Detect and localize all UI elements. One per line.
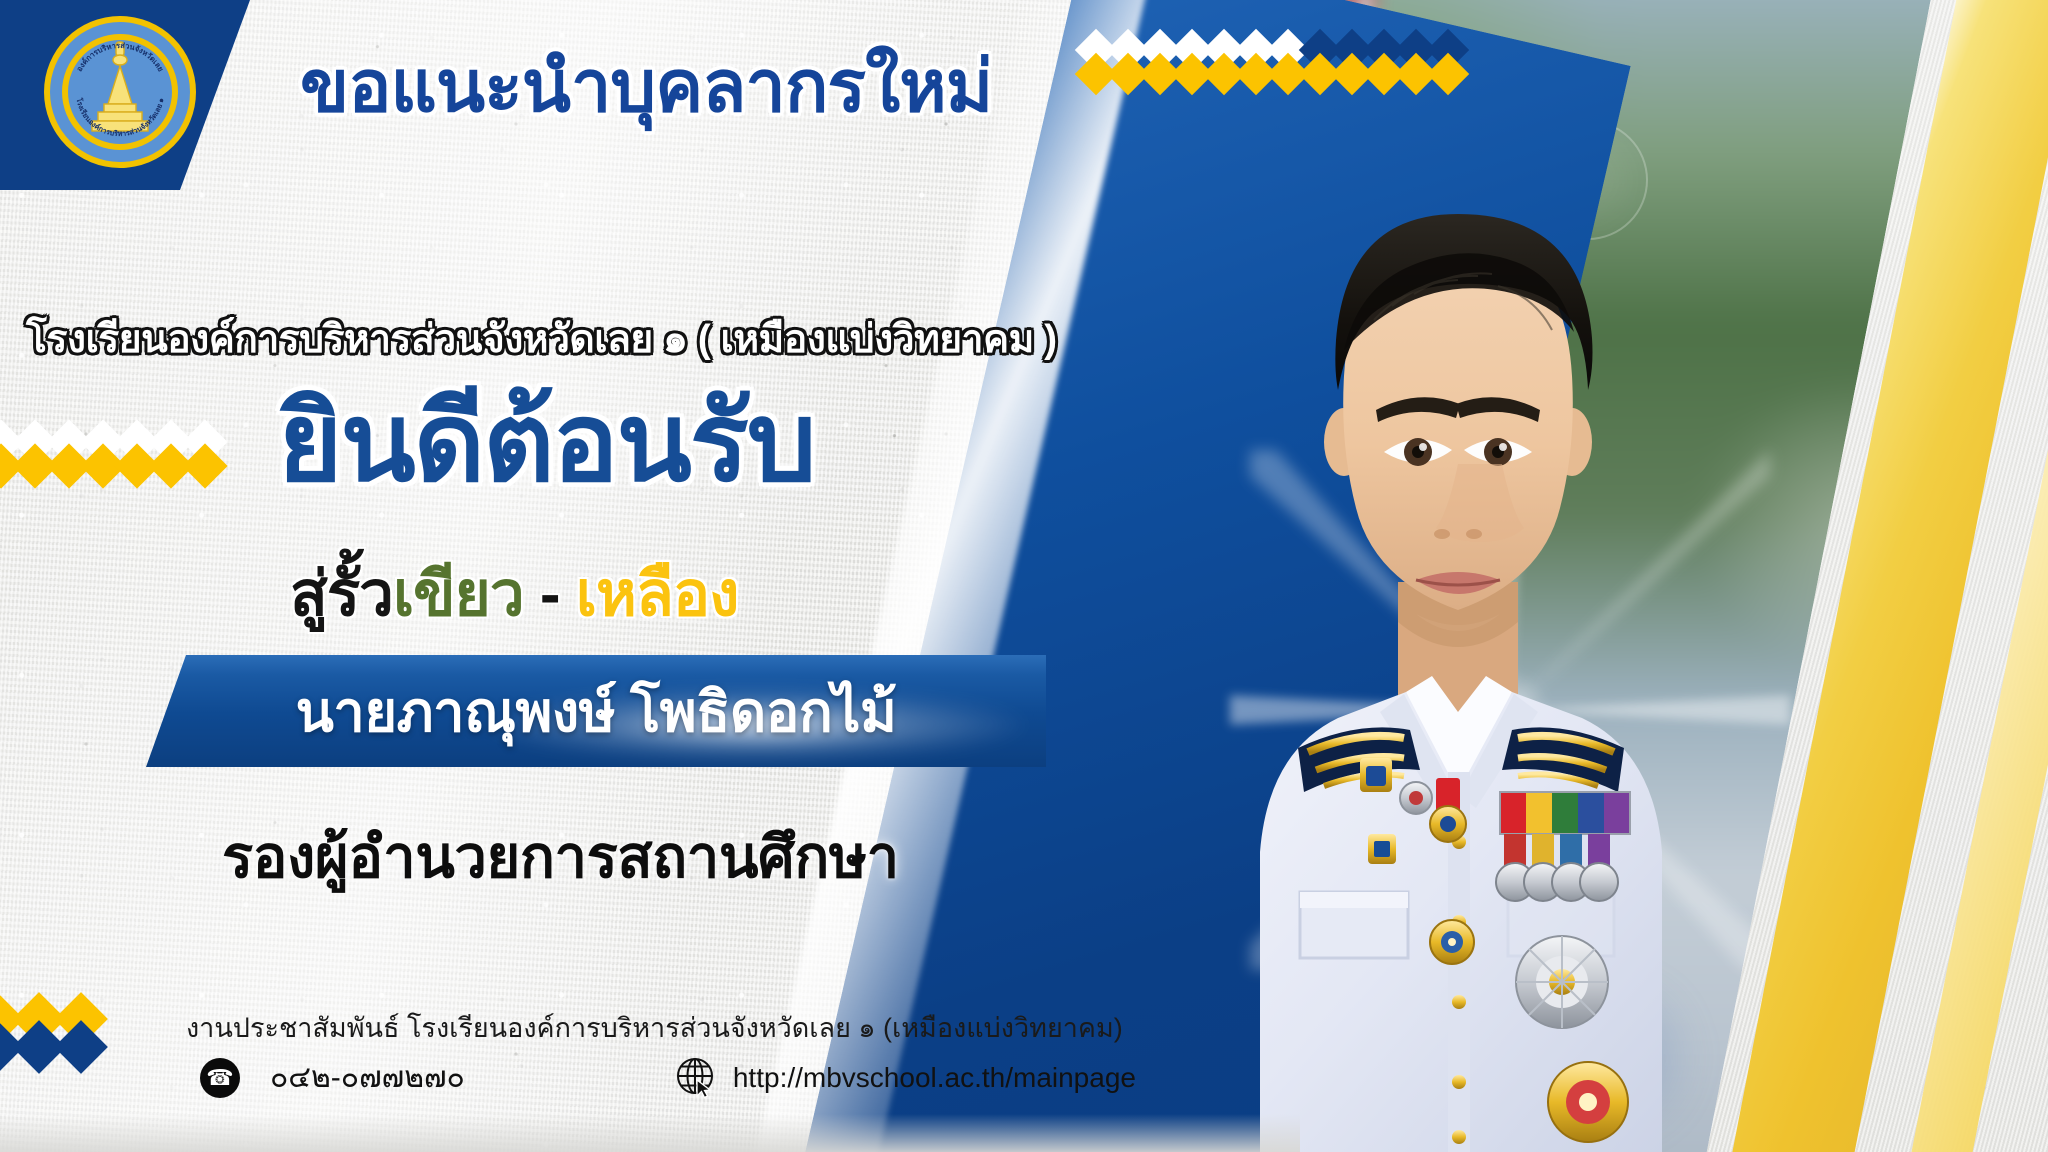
person-name-banner: นายภาณุพงษ์ โพธิดอกไม้: [146, 655, 1046, 767]
slogan-prefix: สู่รั้ว: [290, 560, 393, 629]
welcome-banner-poster: องค์การบริหารส่วนจังหวัดเลย โรงเรียนองค์…: [0, 0, 2048, 1152]
footer-website-item[interactable]: http://mbvschool.ac.th/mainpage: [675, 1056, 1136, 1100]
footer-phone-number: ๐๔๒-๐๗๗๒๗๐: [270, 1054, 465, 1101]
footer: งานประชาสัมพันธ์ โรงเรียนองค์การบริหารส่…: [0, 992, 1300, 1152]
welcome-heading: ยินดีต้อนรับ: [278, 380, 815, 507]
slogan-yellow-word: เหลือง: [576, 560, 739, 629]
slogan-line: สู่รั้วเขียว - เหลือง: [290, 545, 738, 643]
footer-department-line: งานประชาสัมพันธ์ โรงเรียนองค์การบริหารส่…: [186, 1006, 1123, 1049]
slogan-separator: -: [524, 560, 576, 629]
phone-icon: ☎: [200, 1058, 240, 1098]
slogan-green-word: เขียว: [393, 560, 524, 629]
footer-website-url[interactable]: http://mbvschool.ac.th/mainpage: [733, 1062, 1136, 1094]
footer-phone-item: ☎ ๐๔๒-๐๗๗๒๗๐: [200, 1054, 465, 1101]
person-position: รองผู้อำนวยการสถานศึกษา: [222, 810, 899, 903]
footer-contact-row: ☎ ๐๔๒-๐๗๗๒๗๐ http://mbvschool.: [200, 1054, 1136, 1101]
main-content: โรงเรียนองค์การบริหารส่วนจังหวัดเลย ๑ ( …: [0, 0, 1300, 1152]
globe-icon: [675, 1056, 719, 1100]
person-name: นายภาณุพงษ์ โพธิดอกไม้: [146, 655, 1046, 767]
school-name-line: โรงเรียนองค์การบริหารส่วนจังหวัดเลย ๑ ( …: [26, 308, 1057, 370]
